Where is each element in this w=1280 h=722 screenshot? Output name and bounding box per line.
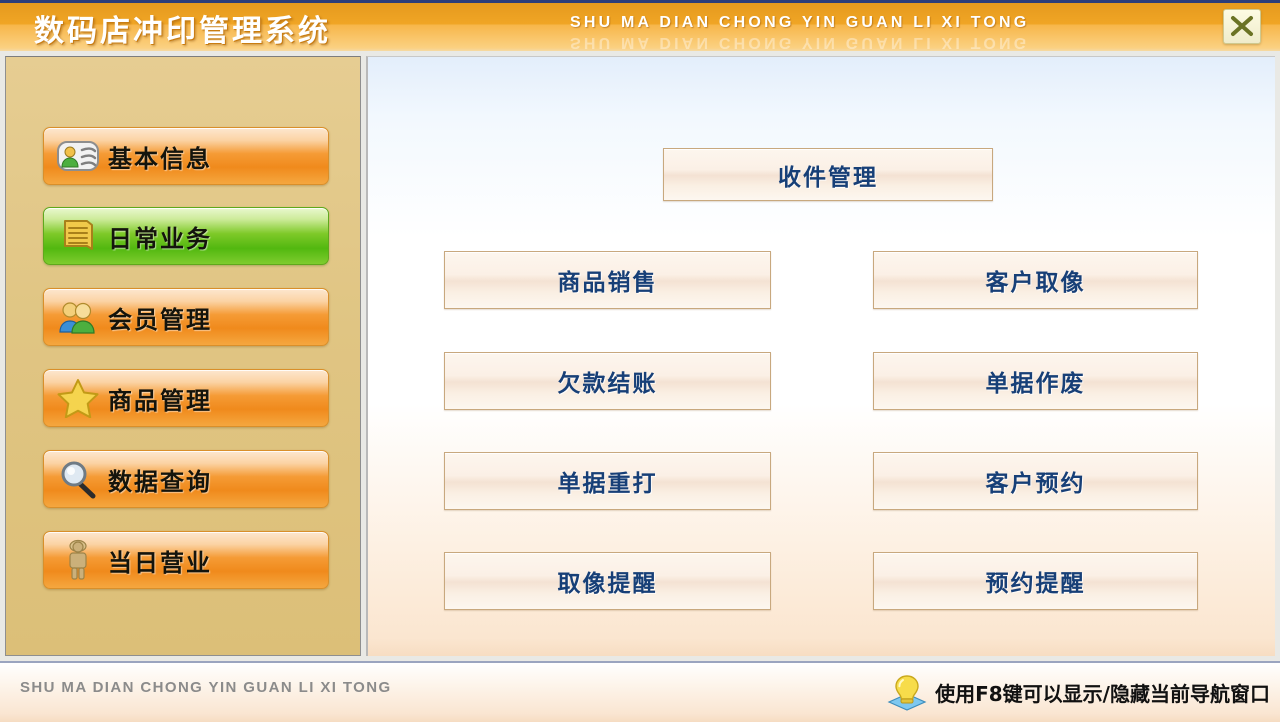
sidebar-item-basic-info[interactable]: 基本信息 bbox=[43, 127, 329, 185]
button-label: 收件管理 bbox=[778, 158, 878, 192]
sidebar-item-label: 日常业务 bbox=[108, 219, 212, 254]
close-button[interactable] bbox=[1223, 9, 1261, 44]
button-customer-reservation[interactable]: 客户预约 bbox=[873, 452, 1198, 510]
sidebar-item-label: 当日营业 bbox=[108, 543, 212, 578]
person-icon bbox=[56, 538, 100, 582]
users-icon bbox=[56, 295, 100, 339]
lightbulb-icon bbox=[885, 672, 929, 712]
sidebar-item-label: 数据查询 bbox=[108, 462, 212, 497]
document-icon bbox=[56, 214, 100, 258]
sidebar-item-member-management[interactable]: 会员管理 bbox=[43, 288, 329, 346]
button-label: 单据重打 bbox=[558, 464, 658, 498]
status-bar-tip-text: 使用F8键可以显示/隐藏当前导航窗口 bbox=[935, 678, 1270, 707]
button-label: 预约提醒 bbox=[986, 564, 1086, 598]
status-bar: SHU MA DIAN CHONG YIN GUAN LI XI TONG 使用… bbox=[0, 661, 1280, 722]
button-reservation-reminder[interactable]: 预约提醒 bbox=[873, 552, 1198, 610]
button-receive-management[interactable]: 收件管理 bbox=[663, 148, 993, 201]
button-pickup-reminder[interactable]: 取像提醒 bbox=[444, 552, 771, 610]
sidebar-item-daily-business[interactable]: 日常业务 bbox=[43, 207, 329, 265]
button-label: 取像提醒 bbox=[558, 564, 658, 598]
sidebar-item-label: 会员管理 bbox=[108, 300, 212, 335]
contacts-icon bbox=[56, 134, 100, 178]
button-void-receipt[interactable]: 单据作废 bbox=[873, 352, 1198, 410]
window-title-pinyin-reflection: SHU MA DIAN CHONG YIN GUAN LI XI TONG bbox=[570, 33, 1029, 51]
button-product-sales[interactable]: 商品销售 bbox=[444, 251, 771, 309]
status-bar-tip: 使用F8键可以显示/隐藏当前导航窗口 bbox=[885, 671, 1270, 713]
status-bar-pinyin: SHU MA DIAN CHONG YIN GUAN LI XI TONG bbox=[20, 679, 392, 696]
button-reprint-receipt[interactable]: 单据重打 bbox=[444, 452, 771, 510]
application-window: 数码店冲印管理系统 SHU MA DIAN CHONG YIN GUAN LI … bbox=[0, 0, 1280, 720]
window-title-chinese: 数码店冲印管理系统 bbox=[34, 6, 331, 50]
close-icon bbox=[1230, 15, 1254, 37]
main-content-panel: 收件管理 商品销售 客户取像 欠款结账 单据作废 单据重打 客户预约 取像提醒 … bbox=[366, 56, 1275, 656]
button-label: 欠款结账 bbox=[558, 364, 658, 398]
button-customer-pickup[interactable]: 客户取像 bbox=[873, 251, 1198, 309]
sidebar-item-label: 基本信息 bbox=[108, 139, 212, 174]
sidebar-item-product-management[interactable]: 商品管理 bbox=[43, 369, 329, 427]
button-label: 客户取像 bbox=[986, 263, 1086, 297]
title-bar: 数码店冲印管理系统 SHU MA DIAN CHONG YIN GUAN LI … bbox=[0, 0, 1280, 51]
sidebar-item-today-business[interactable]: 当日营业 bbox=[43, 531, 329, 589]
button-label: 商品销售 bbox=[558, 263, 658, 297]
star-icon bbox=[56, 376, 100, 420]
navigation-sidebar: 基本信息 日常业务 会员管理 bbox=[5, 56, 361, 656]
window-title-pinyin: SHU MA DIAN CHONG YIN GUAN LI XI TONG bbox=[570, 14, 1029, 32]
sidebar-item-label: 商品管理 bbox=[108, 381, 212, 416]
magnifier-icon bbox=[56, 457, 100, 501]
button-debt-settlement[interactable]: 欠款结账 bbox=[444, 352, 771, 410]
sidebar-item-data-query[interactable]: 数据查询 bbox=[43, 450, 329, 508]
button-label: 单据作废 bbox=[986, 364, 1086, 398]
button-label: 客户预约 bbox=[986, 464, 1086, 498]
